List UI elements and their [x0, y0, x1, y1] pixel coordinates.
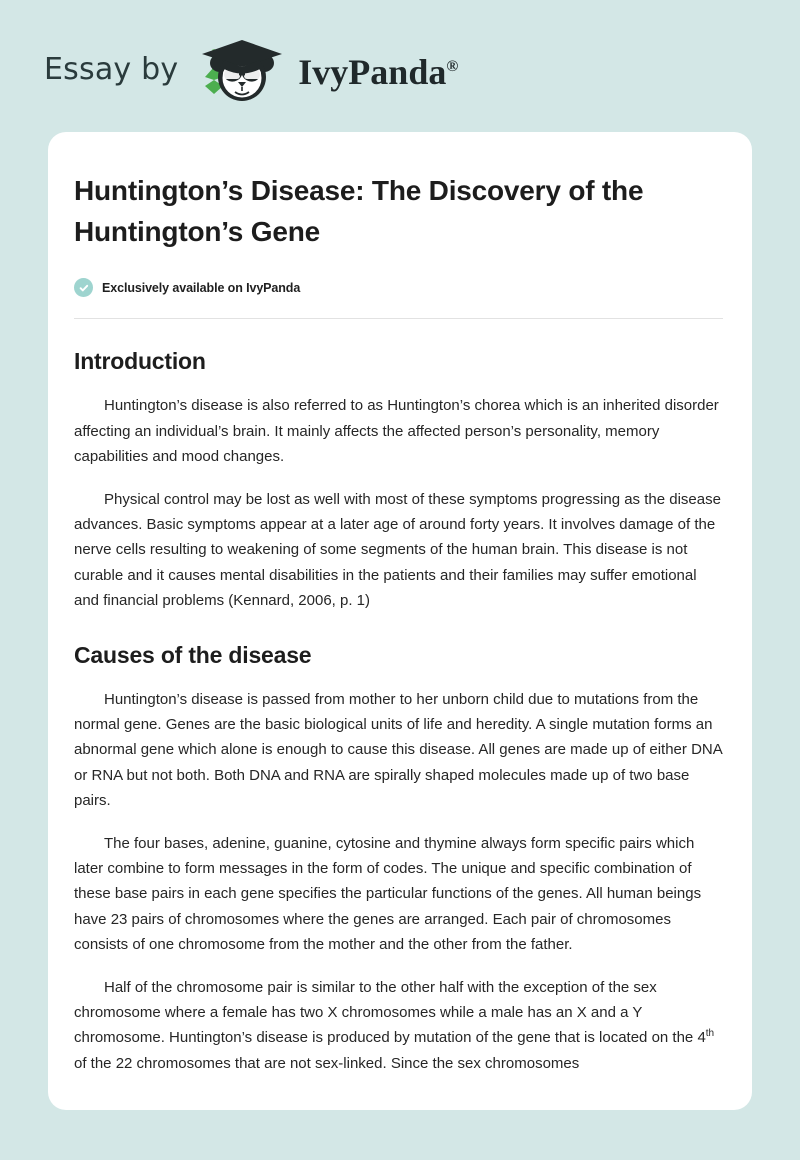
- essay-card: Huntington’s Disease: The Discovery of t…: [48, 132, 752, 1110]
- exclusive-badge-label: Exclusively available on IvyPanda: [102, 281, 300, 295]
- paragraph-text-before-superscript: Half of the chromosome pair is similar t…: [74, 979, 706, 1046]
- essay-content: Huntington’s Disease: The Discovery of t…: [48, 132, 752, 1076]
- section-heading-introduction: Introduction: [74, 348, 722, 375]
- check-circle-icon: [74, 278, 93, 297]
- paragraph: Huntington’s disease is also referred to…: [74, 393, 722, 469]
- paragraph: Physical control may be lost as well wit…: [74, 487, 722, 613]
- page-title: Huntington’s Disease: The Discovery of t…: [74, 170, 714, 252]
- paragraph: Huntington’s disease is passed from moth…: [74, 687, 722, 813]
- wordmark-text: IvyPanda: [298, 52, 446, 92]
- paragraph-text-after-superscript: of the 22 chromosomes that are not sex-l…: [74, 1055, 579, 1072]
- section-heading-causes: Causes of the disease: [74, 642, 722, 669]
- essay-by-label: Essay by: [44, 55, 178, 85]
- ivypanda-wordmark: IvyPanda®: [298, 54, 458, 90]
- graduation-panda-logo-icon: [194, 36, 290, 104]
- paragraph: Half of the chromosome pair is similar t…: [74, 975, 722, 1076]
- exclusive-badge: Exclusively available on IvyPanda: [74, 278, 722, 297]
- ordinal-superscript: th: [706, 1028, 714, 1039]
- registered-mark: ®: [446, 58, 458, 75]
- title-divider: [74, 318, 723, 319]
- brand-header: Essay by: [44, 36, 458, 104]
- paragraph: The four bases, adenine, guanine, cytosi…: [74, 831, 722, 957]
